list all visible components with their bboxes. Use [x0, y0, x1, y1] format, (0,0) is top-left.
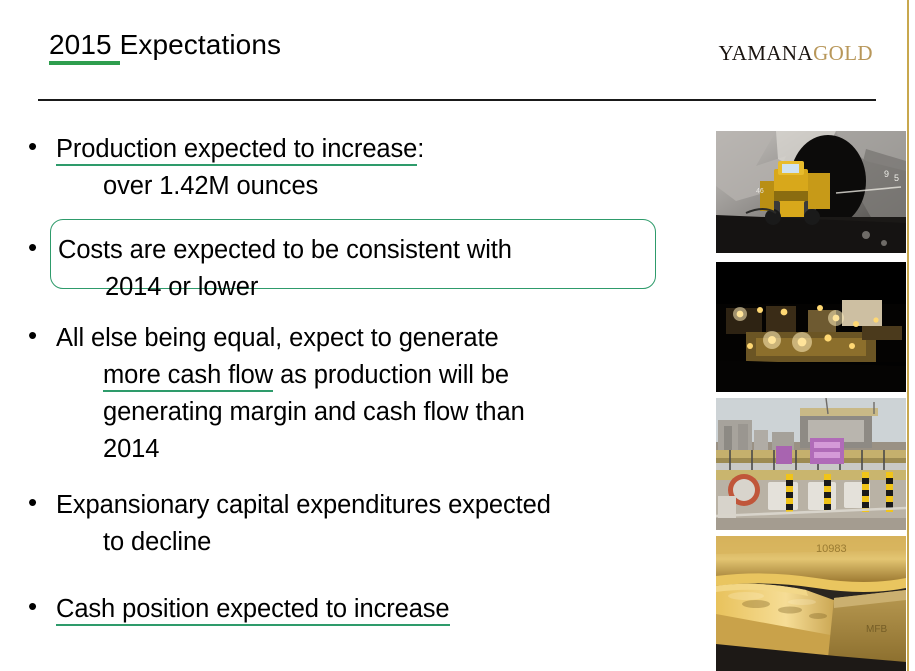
bullet-4-line2: to decline — [56, 524, 728, 561]
logo-text-yamana: YAMANA — [718, 41, 813, 65]
list-item-boxed: • Costs are expected to be consistent wi… — [22, 219, 712, 306]
bullet-marker-icon: • — [28, 593, 37, 619]
bullet-5-underlined: Cash position expected to increase — [56, 595, 450, 626]
page-title: 2015 Expectations — [49, 29, 281, 61]
list-item: • Production expected to increase: over … — [22, 131, 712, 205]
list-item-text: Costs are expected to be consistent with… — [22, 219, 712, 306]
list-item: • All else being equal, expect to genera… — [22, 320, 722, 468]
bullet-2-line1: Costs are expected to be consistent with — [58, 236, 512, 264]
bullet-3-line1: All else being equal, expect to generate — [56, 324, 499, 352]
list-item-text: Production expected to increase: over 1.… — [22, 131, 712, 205]
list-item-text: Cash position expected to increase — [22, 591, 722, 628]
logo-text-gold: GOLD — [813, 41, 873, 65]
bullet-marker-icon: • — [28, 489, 37, 515]
list-item-text: Expansionary capital expenditures expect… — [22, 487, 728, 561]
bullet-1-tail: : — [417, 135, 424, 163]
photo-night-lit-processing-plant — [716, 262, 906, 392]
bullet-3-line3: generating margin and cash flow than — [56, 394, 722, 431]
svg-text:MFB: MFB — [866, 624, 887, 635]
bullet-3-underlined: more cash flow — [103, 361, 273, 392]
svg-text:5: 5 — [894, 173, 899, 183]
svg-text:9: 9 — [884, 169, 889, 179]
bullet-2-line2: 2014 or lower — [58, 269, 712, 306]
bullet-4-line1: Expansionary capital expenditures expect… — [56, 491, 551, 519]
bullet-marker-icon: • — [28, 133, 37, 159]
yamana-gold-logo: YAMANAGOLD — [718, 41, 873, 66]
bullet-3-line2-tail: as production will be — [273, 361, 509, 389]
bullet-3-line4: 2014 — [56, 431, 722, 468]
svg-text:46: 46 — [756, 188, 764, 195]
page-title-highlight: 2015 — [49, 29, 120, 65]
photo-gold-dore-bars: 10983 MFB — [716, 536, 906, 671]
bullet-marker-icon: • — [28, 322, 37, 348]
slide-canvas: 2015 Expectations YAMANAGOLD • Productio… — [0, 0, 915, 671]
photo-underground-mine-tunnel-drill-rig: 9 5 46 — [716, 131, 906, 253]
header-divider — [38, 99, 876, 101]
svg-text:10983: 10983 — [816, 543, 847, 555]
list-item: • Expansionary capital expenditures expe… — [22, 487, 728, 561]
page-title-rest: Expectations — [120, 29, 282, 60]
photo-industrial-plant-tanks-walkway — [716, 398, 906, 530]
bullet-3-line2: more cash flow as production will be — [56, 357, 722, 394]
bullet-1-underlined: Production expected to increase — [56, 135, 417, 166]
list-item-text: All else being equal, expect to generate… — [22, 320, 722, 468]
list-item: • Cash position expected to increase — [22, 591, 722, 628]
bullet-1-subline: over 1.42M ounces — [56, 168, 712, 205]
right-gold-accent-line — [907, 0, 909, 671]
